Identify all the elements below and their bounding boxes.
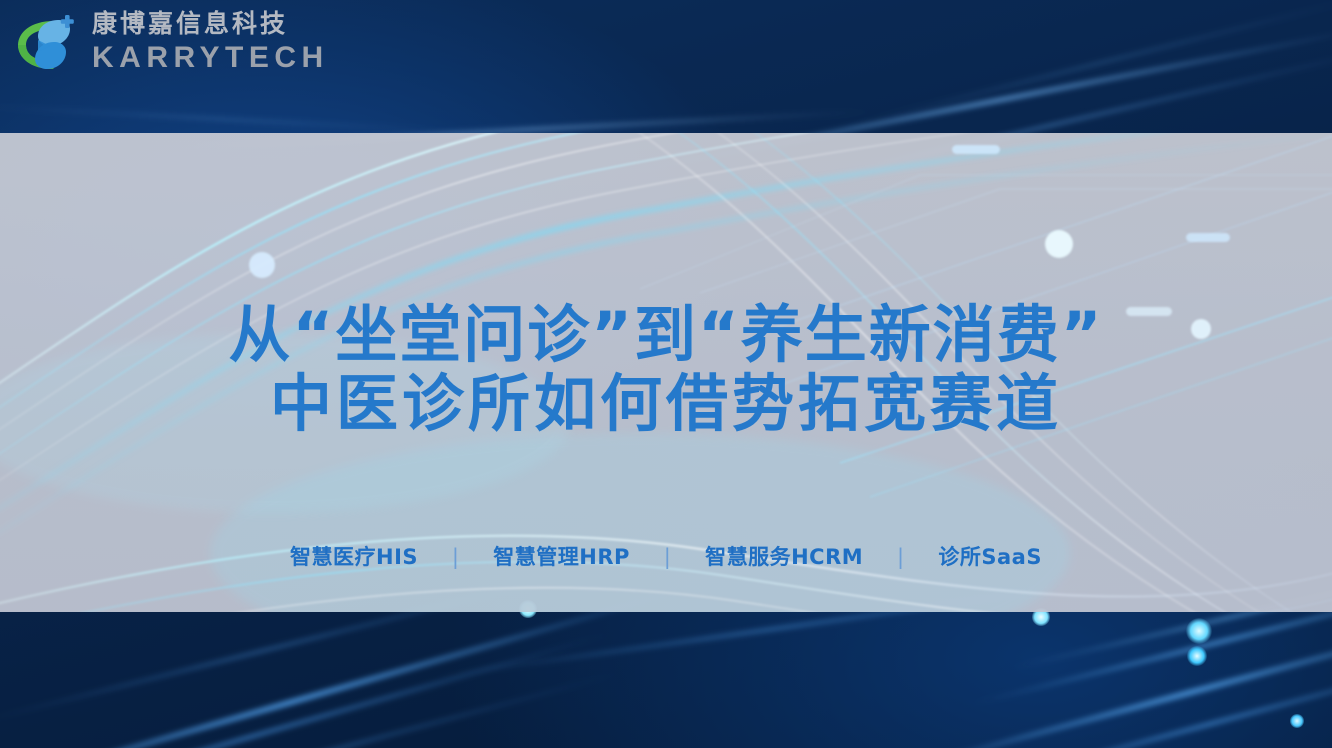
product-tag-saas: 诊所SaaS: [938, 545, 1042, 569]
title-line-1: 从“坐堂问诊”到“养生新消费”: [0, 300, 1332, 369]
brand-logo[interactable]: 康博嘉信息科技 KARRYTECH: [14, 12, 329, 73]
presentation-slide: 康博嘉信息科技 KARRYTECH 从“坐堂问诊”到“养生新消费” 中医诊所如何…: [0, 0, 1332, 748]
brand-name-en: KARRYTECH: [92, 43, 329, 73]
product-tag-his: 智慧医疗HIS: [290, 545, 418, 569]
tag-separator-3: |: [897, 545, 905, 569]
product-tag-hrp: 智慧管理HRP: [493, 545, 630, 569]
logo-icon: [14, 13, 78, 73]
product-tagline: 智慧医疗HIS | 智慧管理HRP | 智慧服务HCRM | 诊所SaaS: [0, 541, 1332, 571]
brand-name-cn: 康博嘉信息科技: [92, 12, 329, 37]
product-tag-hcrm: 智慧服务HCRM: [705, 545, 863, 569]
karrytech-logo-mark: [14, 13, 78, 73]
tag-separator-2: |: [664, 545, 672, 569]
brand-text: 康博嘉信息科技 KARRYTECH: [92, 12, 329, 73]
title-line-2: 中医诊所如何借势拓宽赛道: [0, 369, 1332, 438]
slide-title: 从“坐堂问诊”到“养生新消费” 中医诊所如何借势拓宽赛道: [0, 300, 1332, 439]
tag-separator-1: |: [452, 545, 460, 569]
